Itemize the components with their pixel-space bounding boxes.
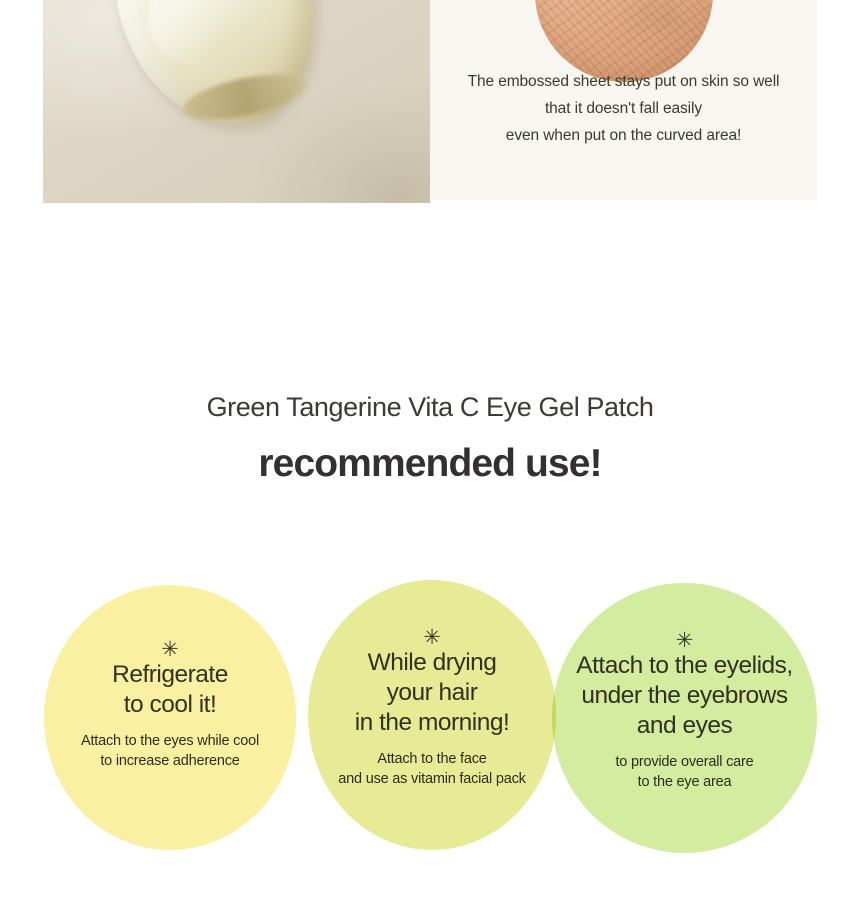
usage-desc-line-1: Attach to the face	[308, 749, 556, 769]
usage-title-line-2: to cool it!	[44, 690, 296, 720]
usage-title-line-1: Refrigerate	[44, 660, 296, 690]
usage-desc-line-2: to the eye area	[552, 772, 817, 792]
usage-description: Attach to the eyes while cool to increas…	[44, 731, 296, 771]
section-headline: Green Tangerine Vita C Eye Gel Patch rec…	[0, 386, 860, 489]
usage-circle-morning-hair-drying: ✳ While drying your hair in the morning!…	[308, 580, 556, 850]
usage-title-line-2: your hair	[308, 678, 556, 708]
usage-title-line-1: Attach to the eyelids,	[552, 651, 817, 681]
asterisk-icon: ✳	[44, 640, 296, 660]
page-title: recommended use!	[0, 439, 860, 489]
usage-desc-line-1: to provide overall care	[552, 752, 817, 772]
banner-caption: The embossed sheet stays put on skin so …	[430, 68, 817, 149]
usage-description: Attach to the face and use as vitamin fa…	[308, 749, 556, 789]
usage-circle-eyelids-eyebrows: ✳ Attach to the eyelids, under the eyebr…	[552, 583, 817, 853]
usage-title: While drying your hair in the morning!	[308, 648, 556, 738]
top-photo-banner: The embossed sheet stays put on skin so …	[0, 0, 860, 205]
usage-desc-line-2: and use as vitamin facial pack	[308, 769, 556, 789]
usage-desc-line-2: to increase adherence	[44, 751, 296, 771]
asterisk-icon: ✳	[308, 628, 556, 648]
recommended-use-circles: ✳ Refrigerate to cool it! Attach to the …	[0, 578, 860, 858]
banner-caption-line-1: The embossed sheet stays put on skin so …	[430, 68, 817, 95]
usage-title-line-1: While drying	[308, 648, 556, 678]
asterisk-icon: ✳	[552, 631, 817, 651]
banner-caption-line-2: that it doesn't fall easily	[430, 95, 817, 122]
usage-desc-line-1: Attach to the eyes while cool	[44, 731, 296, 751]
usage-title: Attach to the eyelids, under the eyebrow…	[552, 651, 817, 741]
usage-description: to provide overall care to the eye area	[552, 752, 817, 792]
gel-patch-shape	[99, 0, 339, 146]
gel-patch-photo	[43, 0, 430, 203]
banner-caption-line-3: even when put on the curved area!	[430, 122, 817, 149]
usage-title: Refrigerate to cool it!	[44, 660, 296, 720]
product-name: Green Tangerine Vita C Eye Gel Patch	[0, 386, 860, 428]
product-detail-page: The embossed sheet stays put on skin so …	[0, 0, 860, 901]
usage-title-line-3: and eyes	[552, 711, 817, 741]
usage-title-line-2: under the eyebrows	[552, 681, 817, 711]
usage-title-line-3: in the morning!	[308, 708, 556, 738]
usage-circle-refrigerate: ✳ Refrigerate to cool it! Attach to the …	[44, 585, 296, 850]
